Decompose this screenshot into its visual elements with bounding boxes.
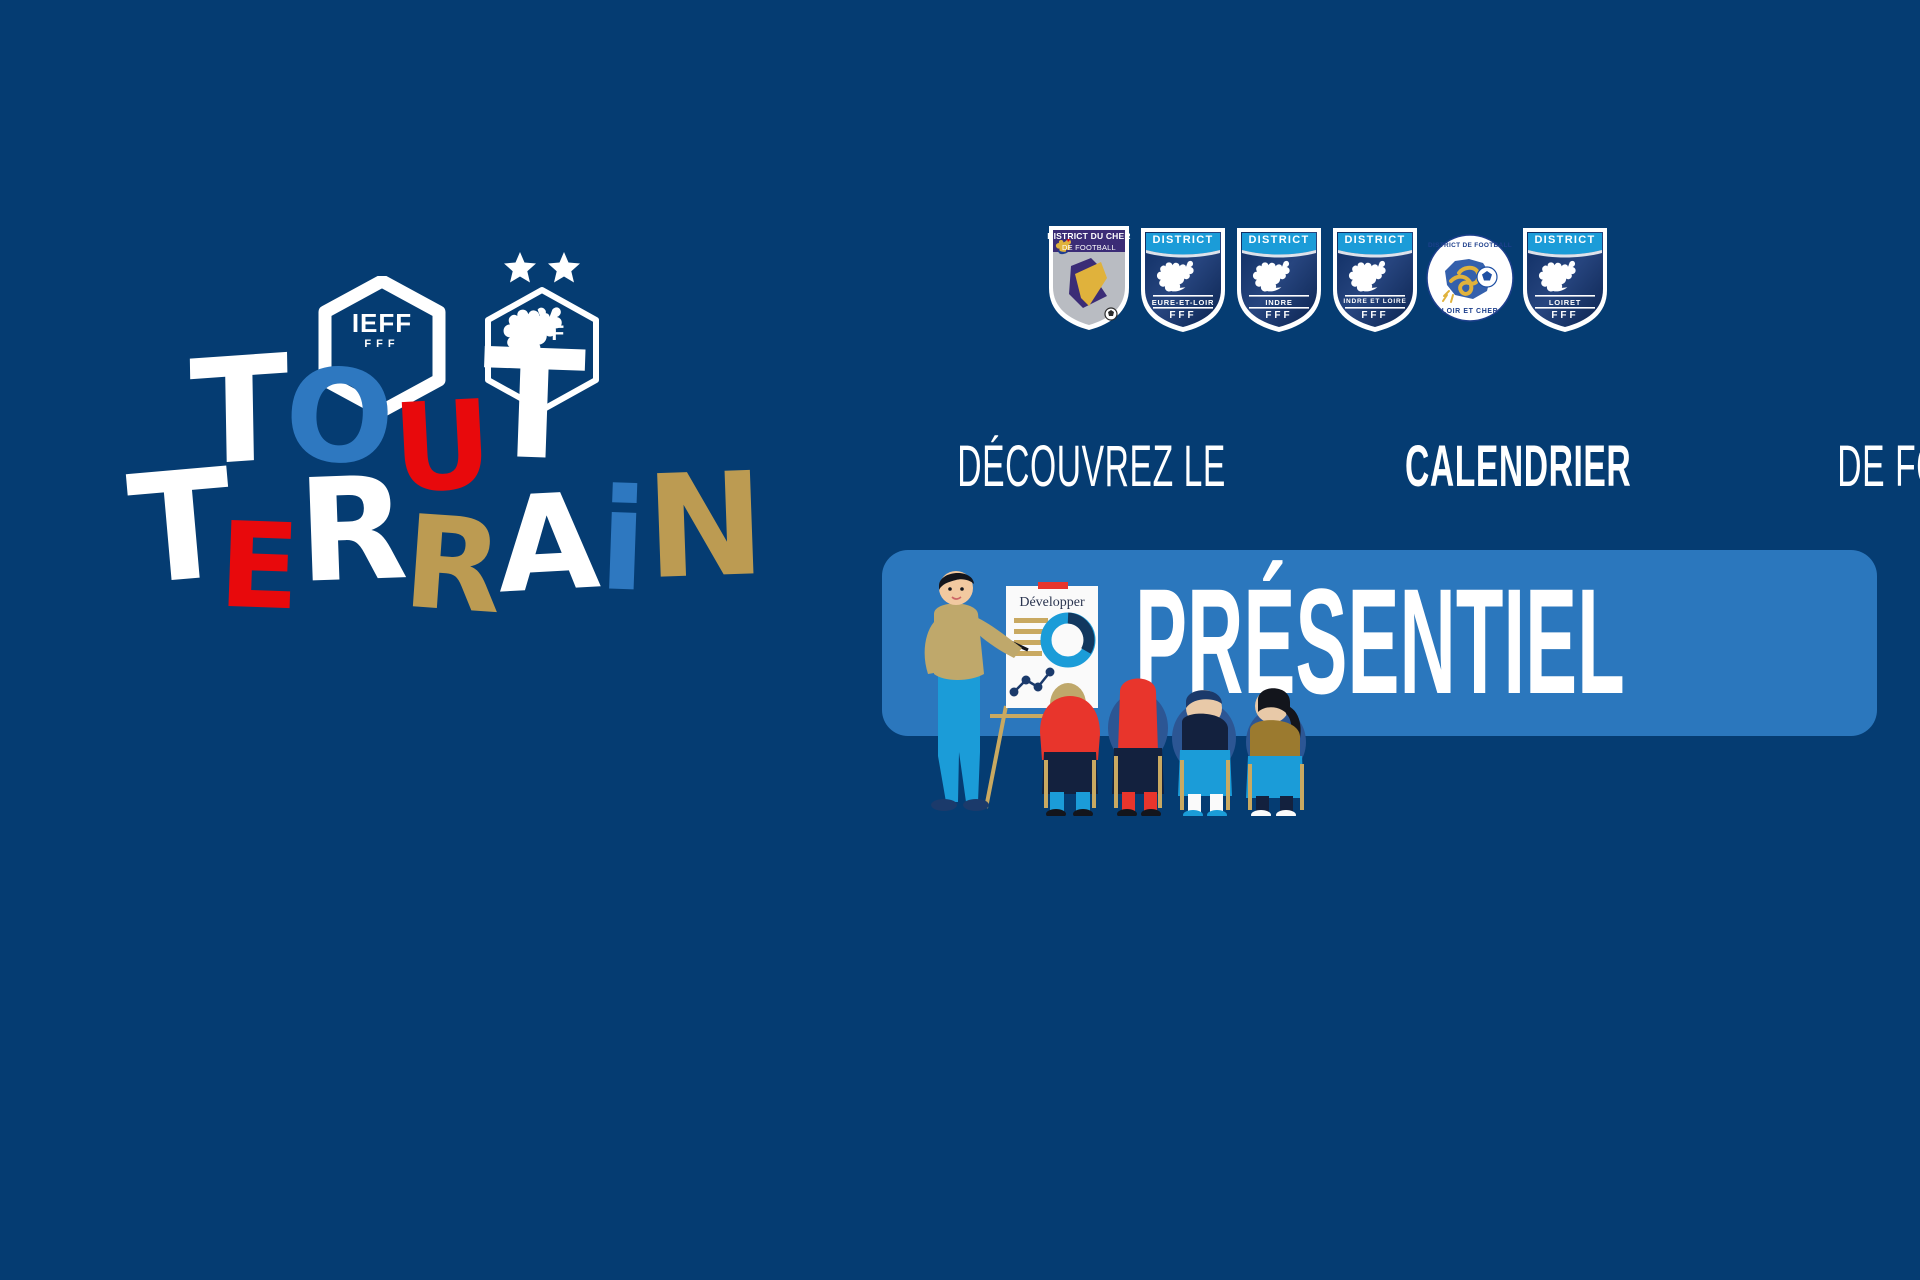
district-logos-row: DISTRICT DU CHER DE FOOTBALL (1045, 222, 1611, 334)
cher-title: DISTRICT DU CHER (1045, 231, 1133, 241)
content-block: DISTRICT DU CHER DE FOOTBALL (860, 0, 1920, 1280)
shield-icon (1137, 222, 1229, 334)
attendee-figure-redhair (1108, 679, 1168, 817)
cher-subtitle: DE FOOTBALL (1045, 243, 1133, 252)
wordmark-letter: T (480, 344, 586, 467)
headline-part2: DE FORMATIONS EN (1838, 438, 1920, 496)
wordmark-letter: A (494, 489, 602, 600)
shield-icon (1329, 222, 1421, 334)
shield-icon (1233, 222, 1325, 334)
attendee-figure-blue (1172, 690, 1236, 816)
poster-canvas: IEFF FFF FFF (0, 0, 1920, 1280)
wordmark-letter: R (400, 512, 505, 621)
headline-emphasis: CALENDRIER (1405, 438, 1631, 496)
brand-block: IEFF FFF FFF (0, 0, 860, 1280)
district-logo-indre: DISTRICT INDRE FFF (1233, 222, 1325, 334)
training-scene-icon: Développer (910, 556, 1340, 816)
district-logo-cher: DISTRICT DU CHER DE FOOTBALL (1045, 222, 1133, 334)
wordmark-letter: E (217, 518, 301, 615)
wordmark-letter: i (597, 485, 649, 599)
district-logo-eure-et-loir: DISTRICT EURE-ET-LOIR FFF (1137, 222, 1229, 334)
round-bottom-label: LOIR ET CHER (1425, 308, 1515, 315)
wordmark-line-terrain: T E R R A i N (130, 468, 765, 588)
flipchart-title: Développer (1019, 595, 1085, 610)
district-logo-loir-et-cher: DISTRICT DE FOOTBALL LOIR ET CHER (1425, 233, 1515, 323)
classroom-training-illustration: Développer (910, 556, 1340, 816)
district-logo-loiret: DISTRICT LOIRET FFF (1519, 222, 1611, 334)
shield-icon (1519, 222, 1611, 334)
headline: DÉCOUVREZ LE CALENDRIER DE FORMATIONS EN (860, 438, 1920, 496)
round-top-label: DISTRICT DE FOOTBALL (1425, 242, 1515, 249)
attendee-figure-gold (1246, 688, 1306, 816)
wordmark-letter: R (296, 472, 409, 589)
headline-part1: DÉCOUVREZ LE (957, 438, 1226, 496)
wordmark-letter: N (644, 468, 767, 586)
tout-terrain-wordmark: T O U T T E R R A i N (130, 350, 750, 750)
ieff-logo-text: IEFF (318, 308, 446, 339)
fff-stars-icon (504, 252, 580, 283)
district-logo-indre-et-loire: DISTRICT INDRE ET LOIRE FFF (1329, 222, 1421, 334)
